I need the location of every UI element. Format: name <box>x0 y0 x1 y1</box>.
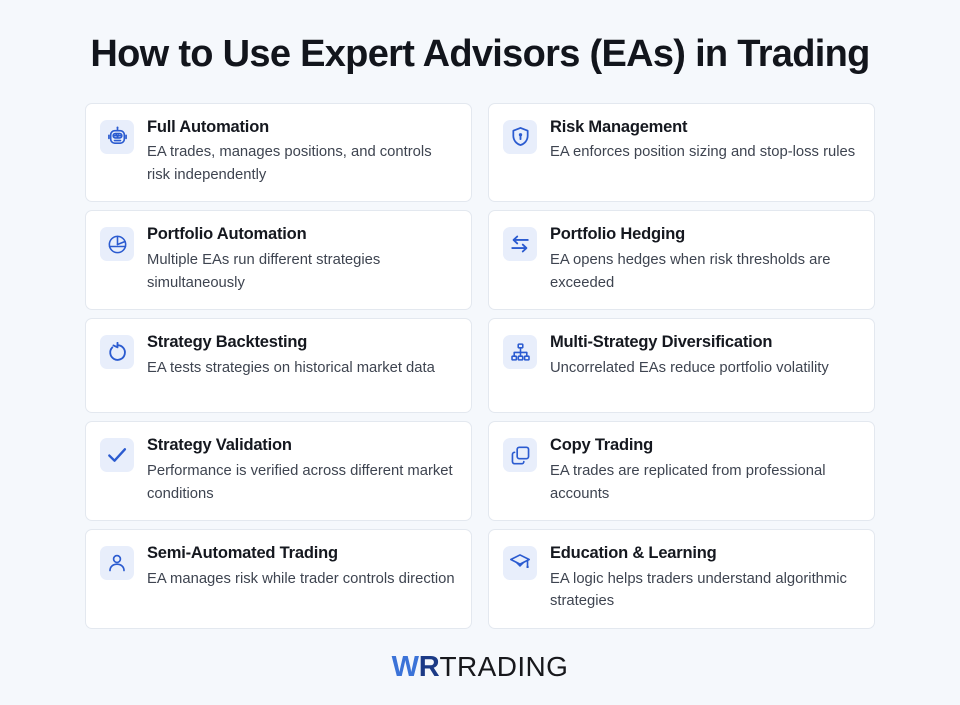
feature-card[interactable]: Portfolio Automation Multiple EAs run di… <box>85 210 472 310</box>
checkmark-icon <box>100 438 134 472</box>
feature-card-text: Portfolio Automation Multiple EAs run di… <box>147 225 455 294</box>
copy-squares-icon <box>503 438 537 472</box>
robot-icon <box>100 120 134 154</box>
feature-card[interactable]: Copy Trading EA trades are replicated fr… <box>488 421 875 521</box>
feature-card-text: Copy Trading EA trades are replicated fr… <box>550 436 858 505</box>
feature-card-text: Portfolio Hedging EA opens hedges when r… <box>550 225 858 294</box>
feature-card-title: Portfolio Automation <box>147 225 455 245</box>
refresh-counterclockwise-icon <box>100 335 134 369</box>
exchange-arrows-icon <box>503 227 537 261</box>
logo-letter-w: W <box>392 651 419 684</box>
feature-card-title: Education & Learning <box>550 544 858 564</box>
logo-wordmark: TRADING <box>440 651 569 683</box>
feature-card[interactable]: Strategy Backtesting EA tests strategies… <box>85 318 472 413</box>
feature-card-description: EA opens hedges when risk thresholds are… <box>550 249 858 294</box>
pie-chart-icon <box>100 227 134 261</box>
feature-card-text: Strategy Validation Performance is verif… <box>147 436 455 505</box>
feature-card-description: EA enforces position sizing and stop-los… <box>550 141 858 163</box>
feature-card[interactable]: Semi-Automated Trading EA manages risk w… <box>85 529 472 629</box>
feature-card-description: EA manages risk while trader controls di… <box>147 568 455 590</box>
wr-trading-logo: WRTRADING <box>392 651 569 684</box>
feature-card-description: EA trades are replicated from profession… <box>550 460 858 505</box>
feature-card-text: Semi-Automated Trading EA manages risk w… <box>147 544 455 590</box>
feature-card-description: EA logic helps traders understand algori… <box>550 568 858 613</box>
feature-card-title: Risk Management <box>550 118 858 138</box>
feature-card-description: Multiple EAs run different strategies si… <box>147 249 455 294</box>
feature-card[interactable]: Portfolio Hedging EA opens hedges when r… <box>488 210 875 310</box>
feature-card[interactable]: Education & Learning EA logic helps trad… <box>488 529 875 629</box>
feature-card-grid: Full Automation EA trades, manages posit… <box>85 103 875 629</box>
feature-card-description: EA trades, manages positions, and contro… <box>147 141 455 186</box>
infographic-page: How to Use Expert Advisors (EAs) in Trad… <box>0 0 960 705</box>
feature-card-title: Portfolio Hedging <box>550 225 858 245</box>
graduation-cap-icon <box>503 546 537 580</box>
shield-lock-icon <box>503 120 537 154</box>
feature-card-text: Risk Management EA enforces position siz… <box>550 118 858 164</box>
feature-card-text: Education & Learning EA logic helps trad… <box>550 544 858 613</box>
feature-card-title: Strategy Backtesting <box>147 333 455 353</box>
feature-card-title: Multi-Strategy Diversification <box>550 333 858 353</box>
logo-letter-r: R <box>419 651 440 684</box>
user-icon <box>100 546 134 580</box>
feature-card-text: Full Automation EA trades, manages posit… <box>147 118 455 187</box>
feature-card[interactable]: Full Automation EA trades, manages posit… <box>85 103 472 203</box>
feature-card-description: Performance is verified across different… <box>147 460 455 505</box>
feature-card-text: Strategy Backtesting EA tests strategies… <box>147 333 455 379</box>
feature-card-title: Strategy Validation <box>147 436 455 456</box>
feature-card-description: EA tests strategies on historical market… <box>147 357 455 379</box>
feature-card-text: Multi-Strategy Diversification Uncorrela… <box>550 333 858 379</box>
feature-card-title: Semi-Automated Trading <box>147 544 455 564</box>
feature-card[interactable]: Strategy Validation Performance is verif… <box>85 421 472 521</box>
feature-card-title: Copy Trading <box>550 436 858 456</box>
feature-card[interactable]: Multi-Strategy Diversification Uncorrela… <box>488 318 875 413</box>
sitemap-icon <box>503 335 537 369</box>
footer: WRTRADING <box>0 651 960 684</box>
page-title: How to Use Expert Advisors (EAs) in Trad… <box>90 33 869 77</box>
feature-card-description: Uncorrelated EAs reduce portfolio volati… <box>550 357 858 379</box>
feature-card[interactable]: Risk Management EA enforces position siz… <box>488 103 875 203</box>
feature-card-title: Full Automation <box>147 118 455 138</box>
